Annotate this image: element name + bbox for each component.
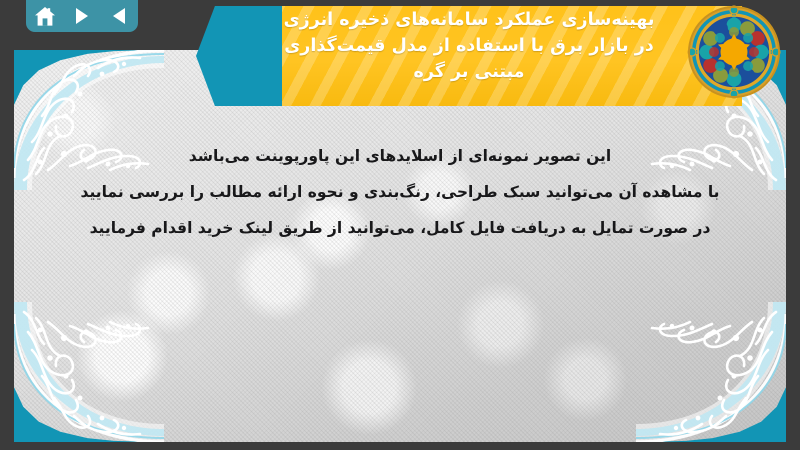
slide-canvas: بهینه‌سازی عملکرد سامانه‌های ذخیره انرژی… bbox=[0, 0, 800, 450]
next-slide-button[interactable] bbox=[67, 3, 97, 29]
slide-title-line-1: بهینه‌سازی عملکرد سامانه‌های ذخیره انرژی bbox=[284, 7, 655, 33]
slide-title: بهینه‌سازی عملکرد سامانه‌های ذخیره انرژی… bbox=[196, 6, 742, 106]
slide-title-banner: بهینه‌سازی عملکرد سامانه‌های ذخیره انرژی… bbox=[196, 6, 742, 106]
previous-slide-button[interactable] bbox=[104, 3, 134, 29]
home-icon bbox=[35, 7, 55, 26]
arabesque-corner-ornament-bottom-left bbox=[14, 302, 164, 442]
slide-title-line-3: مبتنی بر گره bbox=[414, 59, 525, 85]
slide-body-text: این تصویر نمونه‌ای از اسلایدهای این پاور… bbox=[14, 138, 786, 246]
arabesque-corner-ornament-bottom-right bbox=[636, 302, 786, 442]
slide-title-line-2: در بازار برق با استفاده از مدل قیمت‌گذار… bbox=[284, 33, 654, 59]
right-arrow-icon bbox=[74, 7, 90, 25]
home-button[interactable] bbox=[30, 3, 60, 29]
slide-body-line-1: این تصویر نمونه‌ای از اسلایدهای این پاور… bbox=[14, 138, 786, 174]
slide-body-line-3: در صورت تمایل به دریافت فایل کامل، می‌تو… bbox=[14, 210, 786, 246]
persian-rosette-medallion bbox=[686, 4, 782, 100]
left-arrow-icon bbox=[111, 7, 127, 25]
presentation-viewer: بهینه‌سازی عملکرد سامانه‌های ذخیره انرژی… bbox=[0, 0, 800, 450]
slide-navigation-toolbar bbox=[26, 0, 138, 32]
slide-body-line-2: با مشاهده آن می‌توانید سبک طراحی، رنگ‌بن… bbox=[14, 174, 786, 210]
